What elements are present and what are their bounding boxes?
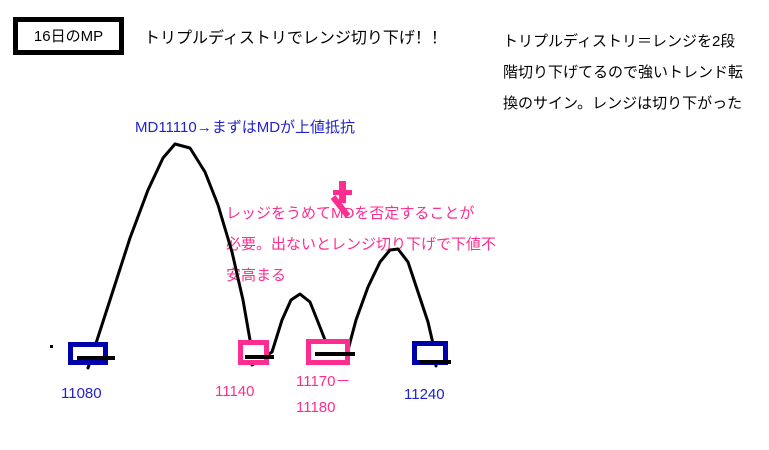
annotated-market-profile-chart: 16日のMP トリプルディストリでレンジ切り下げ！！ トリプルディストリ＝レンジ… (0, 0, 769, 450)
handdrawn-marks-layer (0, 0, 769, 450)
